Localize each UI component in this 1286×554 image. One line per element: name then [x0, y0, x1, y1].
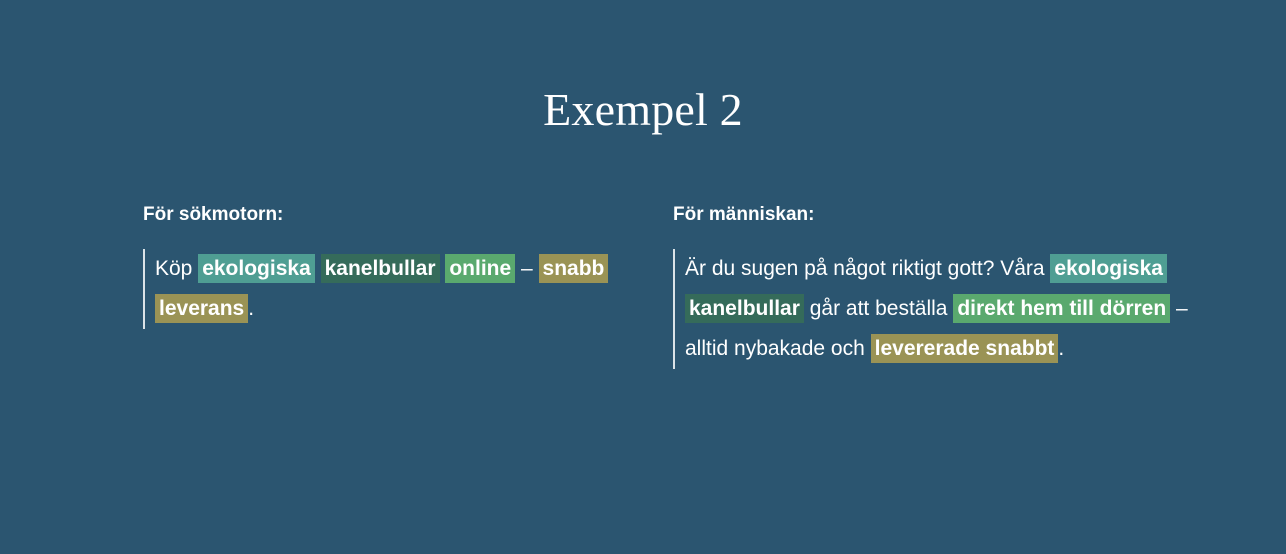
quote-left-plain-2	[315, 257, 321, 280]
quote-text-left: Köp ekologiska kanelbullar online – snab…	[155, 249, 613, 329]
quote-block-right: Är du sugen på något riktigt gott? Våra …	[673, 249, 1218, 369]
keyword-kanelbullar-left: kanelbullar	[321, 254, 440, 283]
keyword-online-left: online	[445, 254, 515, 283]
quote-right-plain-3: går att beställa	[804, 297, 953, 320]
quote-text-right: Är du sugen på något riktigt gott? Våra …	[685, 249, 1218, 369]
quote-left-plain-5: .	[248, 297, 254, 320]
keyword-direkt-hem-till-dorren-right: direkt hem till dörren	[953, 294, 1170, 323]
column-for-human: För människan: Är du sugen på något rikt…	[673, 203, 1218, 369]
column-for-search-engine: För sökmotorn: Köp ekologiska kanelbulla…	[143, 203, 613, 329]
quote-right-plain-5: .	[1058, 337, 1064, 360]
columns-container: För sökmotorn: Köp ekologiska kanelbulla…	[0, 203, 1286, 369]
quote-left-plain-4: –	[515, 257, 538, 280]
quote-left-plain-1: Köp	[155, 257, 198, 280]
keyword-kanelbullar-right: kanelbullar	[685, 294, 804, 323]
column-heading-left: För sökmotorn:	[143, 203, 613, 227]
keyword-levererade-snabbt-right: levererade snabbt	[871, 334, 1059, 363]
keyword-ekologiska-left: ekologiska	[198, 254, 315, 283]
column-heading-right: För människan:	[673, 203, 1218, 227]
quote-right-plain-1: Är du sugen på något riktigt gott? Våra	[685, 257, 1050, 280]
page-title: Exempel 2	[0, 82, 1286, 138]
slide-root: Exempel 2 För sökmotorn: Köp ekologiska …	[0, 0, 1286, 554]
keyword-ekologiska-right: ekologiska	[1050, 254, 1167, 283]
quote-block-left: Köp ekologiska kanelbullar online – snab…	[143, 249, 613, 329]
